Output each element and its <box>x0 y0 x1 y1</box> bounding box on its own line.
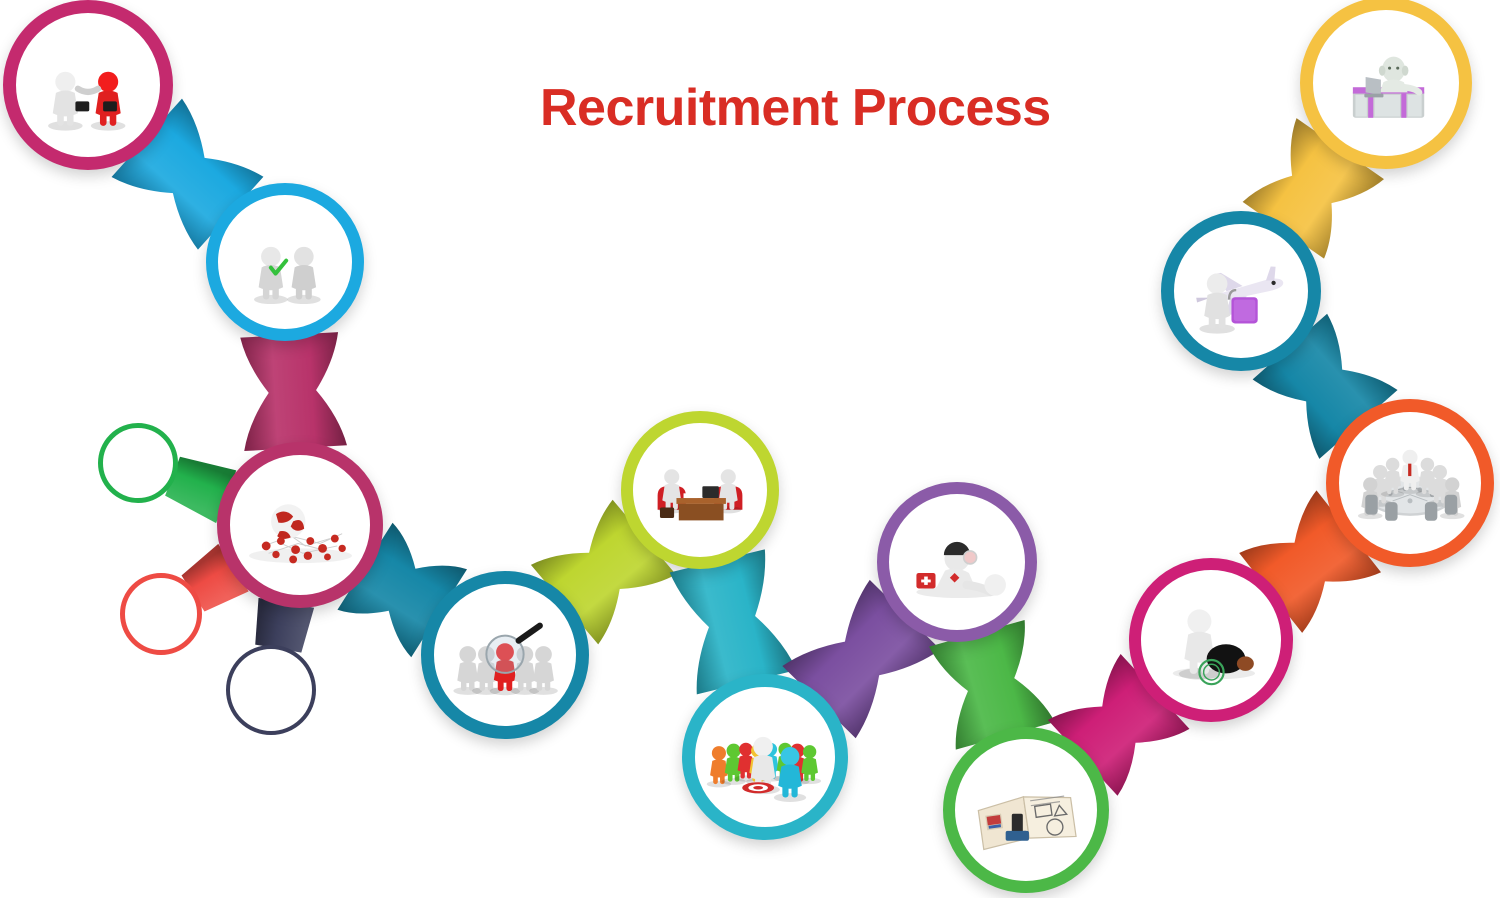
step-illustration-passport-icon <box>955 757 1097 873</box>
step-illustration-airplane-luggage-icon <box>1174 242 1308 350</box>
process-step-3[interactable] <box>217 442 383 608</box>
step-illustration-meeting-table-icon <box>1339 430 1481 546</box>
process-step-11[interactable] <box>1161 211 1321 371</box>
process-step-5[interactable] <box>621 411 779 569</box>
step-illustration-globe-network-icon <box>230 473 370 587</box>
process-step-8[interactable] <box>943 727 1109 893</box>
connector-2-3 <box>240 332 347 451</box>
process-step-1[interactable] <box>3 0 173 170</box>
process-step-7[interactable] <box>877 482 1037 642</box>
step-illustration-handshake-icon <box>16 32 160 148</box>
sourcing-sub-node-1[interactable] <box>98 423 178 503</box>
step-illustration-desk-interview-icon <box>633 440 767 549</box>
step-illustration-stamp-person-icon <box>1141 588 1281 702</box>
step-illustration-colored-crowd-icon <box>695 705 835 819</box>
page-title: Recruitment Process <box>540 78 1051 138</box>
process-step-9[interactable] <box>1129 558 1293 722</box>
sourcing-sub-node-3[interactable] <box>226 645 316 735</box>
process-step-10[interactable] <box>1326 399 1494 567</box>
process-step-12[interactable] <box>1300 0 1472 169</box>
step-illustration-reception-desk-icon <box>1313 29 1459 147</box>
step-illustration-medical-icon <box>889 512 1025 622</box>
process-step-4[interactable] <box>421 571 589 739</box>
sourcing-sub-node-2[interactable] <box>120 573 202 655</box>
process-step-2[interactable] <box>206 183 364 341</box>
process-step-6[interactable] <box>682 674 848 840</box>
step-illustration-two-people-check-icon <box>218 212 352 321</box>
step-illustration-magnify-crowd-icon <box>434 602 576 718</box>
connector-5-6 <box>670 549 797 694</box>
recruitment-process-diagram: Recruitment Process <box>0 0 1500 898</box>
